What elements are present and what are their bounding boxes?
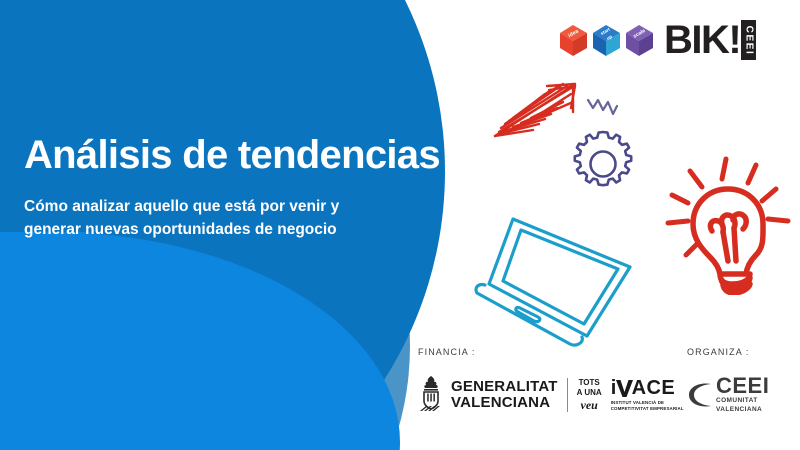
cube-start-up-icon: start up <box>591 22 622 59</box>
bik-wordmark-text: BIK! <box>664 20 740 60</box>
generalitat-line-2: VALENCIANA <box>451 395 558 411</box>
ceei-swoosh-icon <box>687 380 713 410</box>
ceei-sub-line-1: COMUNITAT <box>716 397 769 406</box>
ivace-wordmark: i ACE <box>611 378 675 398</box>
ceei-sub-line-2: VALENCIANA <box>716 406 769 415</box>
tots-a-una-veu-logo: TOTS A UNA veu <box>577 378 602 413</box>
background-shape-light-blue-fill <box>0 232 90 450</box>
generalitat-valenciana-logo: GENERALITAT VALENCIANA <box>418 375 558 415</box>
page-subtitle: Cómo analizar aquello que está por venir… <box>24 195 404 242</box>
cube-idea-icon: idea <box>558 22 589 59</box>
tots-line-2: A UNA <box>577 388 602 398</box>
background-shape-light-blue <box>0 232 400 450</box>
cube-scale-icon: scale <box>624 22 655 59</box>
ceei-logo: CEEI COMUNITAT VALENCIANA <box>687 375 769 415</box>
financia-logos: GENERALITAT VALENCIANA TOTS A UNA veu i … <box>418 375 684 415</box>
logo-cubes: idea start up scale <box>558 22 655 59</box>
subtitle-line-1: Cómo analizar aquello que está por venir… <box>24 198 339 215</box>
generalitat-shield-icon <box>418 375 444 415</box>
bik-wordmark: BIK! CEEI <box>664 20 756 60</box>
ceei-vertical-badge: CEEI <box>741 20 756 60</box>
tots-line-1: TOTS <box>577 378 602 388</box>
page-title: Análisis de tendencias <box>24 134 494 177</box>
ivace-logo: i ACE INSTITUT VALENCIÀ DE COMPETITIVITA… <box>611 378 684 412</box>
financia-label: FINANCIA : <box>418 347 684 357</box>
logo-divider-1 <box>567 378 568 412</box>
ceei-logo-text: CEEI COMUNITAT VALENCIANA <box>716 375 769 415</box>
financia-block: FINANCIA : <box>418 347 684 415</box>
ivace-suffix: ACE <box>632 378 675 398</box>
gear-icon <box>567 128 639 205</box>
bik-logo: idea start up scale BIK! CEEI <box>558 20 756 60</box>
subtitle-line-2: generar nuevas oportunidades de negocio <box>24 221 337 238</box>
ivace-subtitle: INSTITUT VALENCIÀ DE COMPETITIVITAT EMPR… <box>611 400 684 412</box>
ceei-badge-text: CEEI <box>743 25 754 55</box>
tots-line-3: veu <box>577 398 602 413</box>
ceei-word: CEEI <box>716 375 769 397</box>
ivace-sub-line-2: COMPETITIVITAT EMPRESARIAL <box>611 406 684 412</box>
ivace-v-mark-icon <box>616 378 633 398</box>
organiza-label: ORGANIZA : <box>687 347 769 357</box>
generalitat-valenciana-text: GENERALITAT VALENCIANA <box>451 379 558 411</box>
presentation-slide: Análisis de tendencias Cómo analizar aqu… <box>0 0 800 450</box>
lightbulb-icon <box>664 145 792 300</box>
headline-block: Análisis de tendencias Cómo analizar aqu… <box>24 134 494 242</box>
background-shape-muted-blue <box>0 46 410 450</box>
laptop-icon <box>472 204 644 359</box>
organiza-block: ORGANIZA : CEEI COMUNITAT VALENCIANA <box>687 347 769 415</box>
generalitat-line-1: GENERALITAT <box>451 379 558 395</box>
